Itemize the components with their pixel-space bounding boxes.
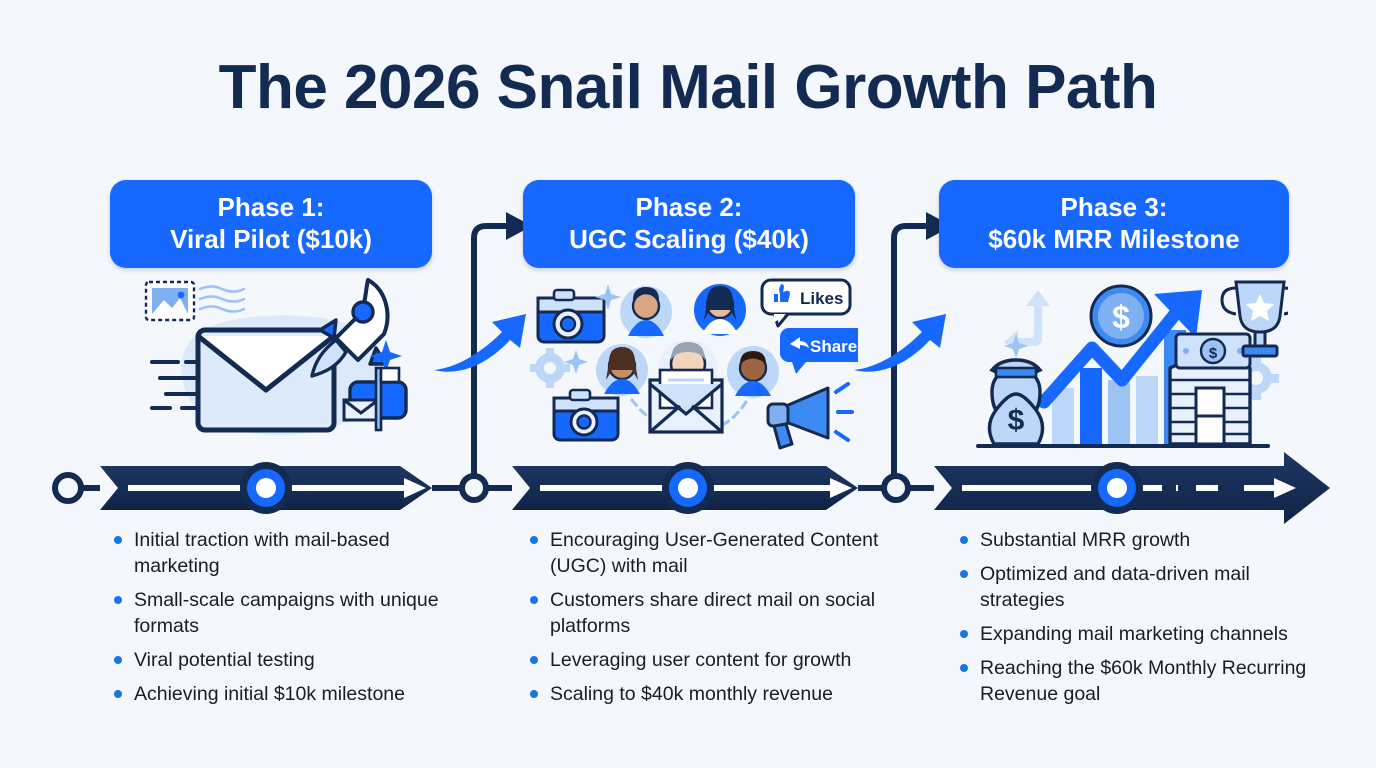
list-item: Viral potential testing [112,648,472,674]
bullet-dot-icon [530,596,538,604]
megaphone-icon [768,384,852,448]
bullet-text: Encouraging User-Generated Content (UGC)… [550,529,878,577]
bullet-text: Scaling to $40k monthly revenue [550,683,833,705]
list-item: Small-scale campaigns with unique format… [112,588,472,640]
phase-2-header[interactable]: Phase 2: UGC Scaling ($40k) [523,180,855,268]
svg-text:$: $ [1209,345,1218,362]
bullet-text: Leveraging user content for growth [550,649,851,671]
phase-3-title-line1: Phase 3: [1061,192,1168,224]
phase-3-title-line2: $60k MRR Milestone [988,224,1239,256]
phase-1-bullet-list: Initial traction with mail-based marketi… [112,528,472,716]
list-item: Achieving initial $10k milestone [112,682,472,708]
timeline-node-phase-2 [662,462,714,514]
phase-3-illustration: $ $ [958,272,1288,462]
bank-building-icon: $ [1170,334,1250,444]
bullet-dot-icon [960,536,968,544]
bullet-dot-icon [960,664,968,672]
phase-1-title-line2: Viral Pilot ($10k) [170,224,372,256]
bullet-text: Achieving initial $10k milestone [134,683,405,705]
timeline-node-phase-3 [1091,462,1143,514]
list-item: Scaling to $40k monthly revenue [528,682,900,708]
likes-badge-label: Likes [800,289,843,308]
bullet-text: Optimized and data-driven mail strategie… [980,563,1250,611]
bullet-dot-icon [530,656,538,664]
bullet-dot-icon [960,630,968,638]
camera-icon [538,290,604,342]
up-right-arrow-icon [434,314,526,372]
list-item: Reaching the $60k Monthly Recurring Reve… [958,656,1308,708]
banknote-icon: $ [1176,334,1250,368]
bullet-text: Viral potential testing [134,649,315,671]
bullet-text: Expanding mail marketing channels [980,623,1288,645]
infographic-canvas: The 2026 Snail Mail Growth Path Phase 1:… [0,0,1376,768]
page-title: The 2026 Snail Mail Growth Path [0,52,1376,123]
likes-badge: Likes [762,280,850,326]
timeline-joint-1 [462,476,486,500]
envelope-icon [198,330,334,430]
timeline-joint-2 [884,476,908,500]
money-bag-icon: $ [989,360,1042,444]
gear-icon [530,348,570,388]
phase-1-header[interactable]: Phase 1: Viral Pilot ($10k) [110,180,432,268]
avatar-icon [694,284,746,336]
bullet-text: Small-scale campaigns with unique format… [134,589,439,637]
bullet-dot-icon [114,536,122,544]
phase-2-bullet-list: Encouraging User-Generated Content (UGC)… [528,528,900,716]
list-item: Encouraging User-Generated Content (UGC)… [528,528,900,580]
up-right-arrow-icon [854,314,946,372]
avatar-icon [620,286,672,338]
avatar-icon [727,346,779,398]
bullet-text: Initial traction with mail-based marketi… [134,529,390,577]
phase-2-title-line1: Phase 2: [636,192,743,224]
envelope-letter-icon [650,370,722,432]
bullet-text: Reaching the $60k Monthly Recurring Reve… [980,657,1306,705]
phase-2-illustration: Likes Shares [528,272,858,462]
list-item: Initial traction with mail-based marketi… [112,528,472,580]
shares-badge: Shares [780,328,858,374]
bullet-dot-icon [114,596,122,604]
bullet-dot-icon [530,690,538,698]
phase-1-title-line1: Phase 1: [218,192,325,224]
phase-3-bullet-list: Substantial MRR growth Optimized and dat… [958,528,1308,716]
bullet-dot-icon [114,690,122,698]
phase-timeline[interactable] [0,448,1376,534]
bullet-text: Customers share direct mail on social pl… [550,589,875,637]
list-item: Expanding mail marketing channels [958,622,1308,648]
phase-1-illustration [130,272,430,462]
postage-stamp-icon [146,282,244,320]
list-item: Optimized and data-driven mail strategie… [958,562,1308,614]
list-item: Leveraging user content for growth [528,648,900,674]
avatar-icon [596,344,648,396]
phase-3-header[interactable]: Phase 3: $60k MRR Milestone [939,180,1289,268]
camera-icon [554,390,618,440]
bullet-dot-icon [530,536,538,544]
list-item: Customers share direct mail on social pl… [528,588,900,640]
timeline-start-cap [55,475,81,501]
bullet-dot-icon [960,570,968,578]
dollar-coin-icon: $ [1091,286,1151,346]
bullet-dot-icon [114,656,122,664]
phase-2-title-line2: UGC Scaling ($40k) [569,224,809,256]
svg-text:$: $ [1112,299,1130,335]
timeline-node-phase-1 [240,462,292,514]
svg-text:$: $ [1008,404,1025,437]
